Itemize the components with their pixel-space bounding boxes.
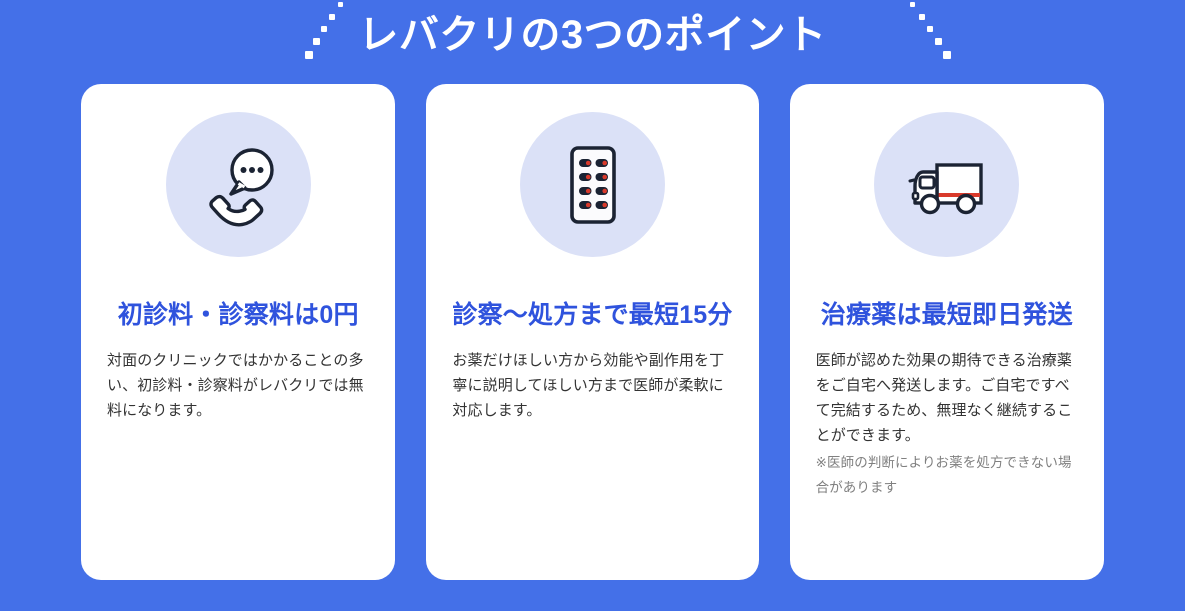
point-card-1[interactable]: 初診料・診察料は0円 対面のクリニックではかかることの多い、初診料・診察料がレバ…	[81, 84, 395, 580]
card-body: お薬だけほしい方から効能や副作用を丁寧に説明してほしい方まで医師が柔軟に対応しま…	[452, 348, 732, 423]
card-heading: 初診料・診察料は0円	[118, 300, 359, 330]
card-body: 医師が認めた効果の期待できる治療薬をご自宅へ発送します。ご自宅ですべて完結するた…	[816, 348, 1078, 448]
dashed-diagonal-decoration-right	[898, 0, 958, 60]
card-heading: 治療薬は最短即日発送	[821, 300, 1073, 330]
delivery-truck-icon	[901, 139, 993, 231]
dashed-diagonal-decoration-left	[296, 0, 356, 60]
icon-circle	[520, 112, 665, 257]
point-card-3[interactable]: 治療薬は最短即日発送 医師が認めた効果の期待できる治療薬をご自宅へ発送します。ご…	[790, 84, 1104, 580]
point-card-2[interactable]: 診察〜処方まで最短15分 お薬だけほしい方から効能や副作用を丁寧に説明してほしい…	[426, 84, 758, 580]
pill-sheet-icon	[550, 142, 636, 228]
points-card-list: 初診料・診察料は0円 対面のクリニックではかかることの多い、初診料・診察料がレバ…	[81, 84, 1104, 580]
card-body: 対面のクリニックではかかることの多い、初診料・診察料がレバクリでは無料になります…	[107, 348, 369, 423]
phone-chat-icon	[195, 142, 281, 228]
icon-circle	[166, 112, 311, 257]
card-heading: 診察〜処方まで最短15分	[452, 300, 732, 330]
icon-circle	[874, 112, 1019, 257]
card-note: ※医師の判断によりお薬を処方できない場合があります	[816, 450, 1078, 500]
section-title-row: レバクリの3つのポイント	[0, 0, 1185, 70]
page-title: レバクリの3つのポイント	[358, 13, 826, 57]
